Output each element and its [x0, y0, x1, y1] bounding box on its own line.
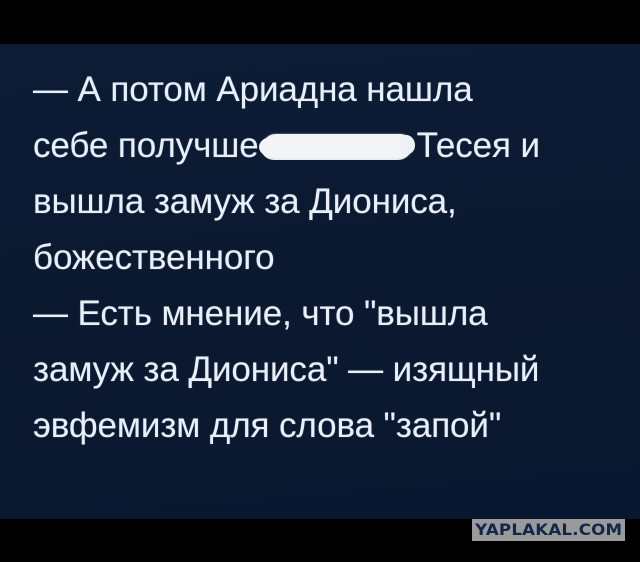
meme-line-2: себе получшеТесея и: [33, 118, 623, 174]
meme-line-7: эвфемизм для слова "запой": [33, 398, 623, 454]
meme-line-6-text: замуж за Диониса" — изящный: [33, 350, 539, 389]
meme-line-3: вышла замуж за Диониса,: [33, 174, 623, 230]
meme-line-2-text-before: себе получше: [33, 126, 259, 165]
screenshot-root: — А потом Ариадна нашла себе получшеТесе…: [0, 0, 640, 562]
watermark-text: YAPLAKAL.COM: [475, 522, 622, 538]
meme-line-4-text: божественного: [33, 238, 274, 277]
letterbox-top: [0, 0, 640, 44]
redaction-bar: [263, 134, 413, 158]
meme-text-block: — А потом Ариадна нашла себе получшеТесе…: [33, 62, 623, 454]
meme-line-4: божественного: [33, 230, 623, 286]
meme-line-1: — А потом Ариадна нашла: [33, 62, 623, 118]
site-watermark: YAPLAKAL.COM: [472, 519, 625, 541]
meme-card: — А потом Ариадна нашла себе получшеТесе…: [0, 44, 640, 519]
meme-line-5: — Есть мнение, что "вышла: [33, 286, 623, 342]
meme-line-6: замуж за Диониса" — изящный: [33, 342, 623, 398]
meme-line-7-text: эвфемизм для слова "запой": [33, 406, 501, 445]
meme-line-3-text: вышла замуж за Диониса,: [33, 182, 457, 221]
meme-line-5-text: — Есть мнение, что "вышла: [33, 294, 488, 333]
meme-line-1-text: — А потом Ариадна нашла: [33, 70, 473, 109]
meme-line-2-text-after: Тесея и: [417, 126, 540, 165]
